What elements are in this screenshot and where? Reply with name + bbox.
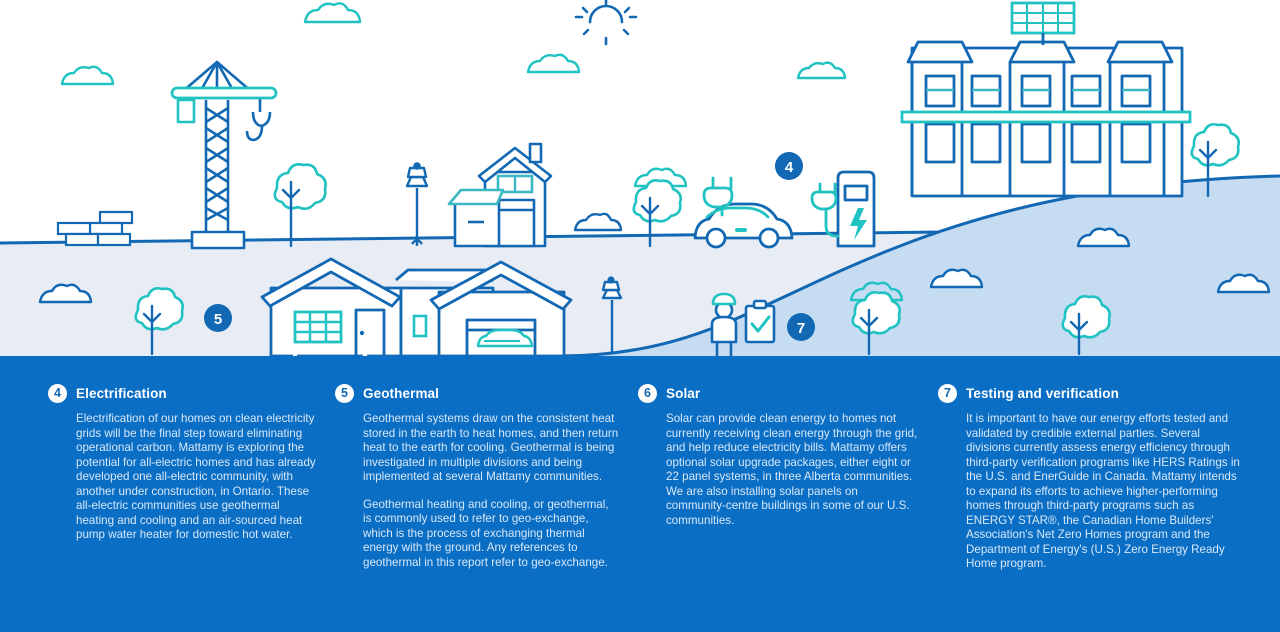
infographic-page: 4 5 7 4 Electrification (0, 0, 1280, 632)
door-knob-icon (360, 331, 364, 335)
scene-badge-4: 4 (775, 152, 803, 180)
legend-heading: 4 Electrification (48, 356, 318, 403)
legend-body: Solar can provide clean energy to homes … (638, 403, 919, 528)
scene-badge-7-label: 7 (797, 320, 805, 337)
clipboard-check-icon (746, 301, 774, 342)
legend-item-electrification: 4 Electrification Electrification of our… (0, 356, 330, 572)
scene-badge-5-label: 5 (214, 311, 222, 328)
tower-crane-jib-icon (172, 88, 276, 98)
legend-item-solar: 6 Solar Solar can provide clean energy t… (633, 356, 933, 572)
legend-body: Geothermal systems draw on the consisten… (335, 403, 619, 570)
window-icon (414, 316, 426, 336)
legend-heading: 5 Geothermal (335, 356, 619, 403)
legend-badge-5: 5 (335, 384, 354, 403)
car-badge-icon (735, 228, 747, 232)
legend-heading: 7 Testing and verification (938, 356, 1240, 403)
balcony-band-icon (902, 112, 1190, 122)
window-icon (295, 312, 341, 342)
legend-badge-6: 6 (638, 384, 657, 403)
scene-badge-7: 7 (787, 313, 815, 341)
legend-title-electrification: Electrification (76, 386, 167, 401)
legend-columns: 4 Electrification Electrification of our… (0, 356, 1280, 572)
legend-item-testing-and-verification: 7 Testing and verification It is importa… (933, 356, 1280, 572)
shed-icon (449, 190, 503, 246)
scene-badge-5: 5 (204, 304, 232, 332)
legend-paragraph: It is important to have our energy effor… (938, 403, 1240, 572)
legend-title-testing-and-verification: Testing and verification (966, 386, 1119, 401)
legend-paragraph: Geothermal systems draw on the consisten… (335, 403, 619, 485)
legend-paragraph: Geothermal heating and cooling, or geoth… (335, 485, 619, 571)
hard-hat-icon (713, 294, 735, 304)
scene-badge-4-label: 4 (785, 159, 794, 176)
legend-badge-7: 7 (938, 384, 957, 403)
legend-item-geothermal: 5 Geothermal Geothermal systems draw on … (330, 356, 633, 572)
illustration-scene: 4 5 7 (0, 0, 1280, 356)
legend-panel: 4 Electrification Electrification of our… (0, 356, 1280, 632)
legend-body: Electrification of our homes on clean el… (48, 403, 318, 543)
legend-paragraph: Solar can provide clean energy to homes … (638, 403, 919, 528)
legend-heading: 6 Solar (638, 356, 919, 403)
legend-body: It is important to have our energy effor… (938, 403, 1240, 572)
legend-badge-4: 4 (48, 384, 67, 403)
legend-paragraph: Electrification of our homes on clean el… (48, 403, 318, 543)
legend-title-geothermal: Geothermal (363, 386, 439, 401)
legend-title-solar: Solar (666, 386, 700, 401)
